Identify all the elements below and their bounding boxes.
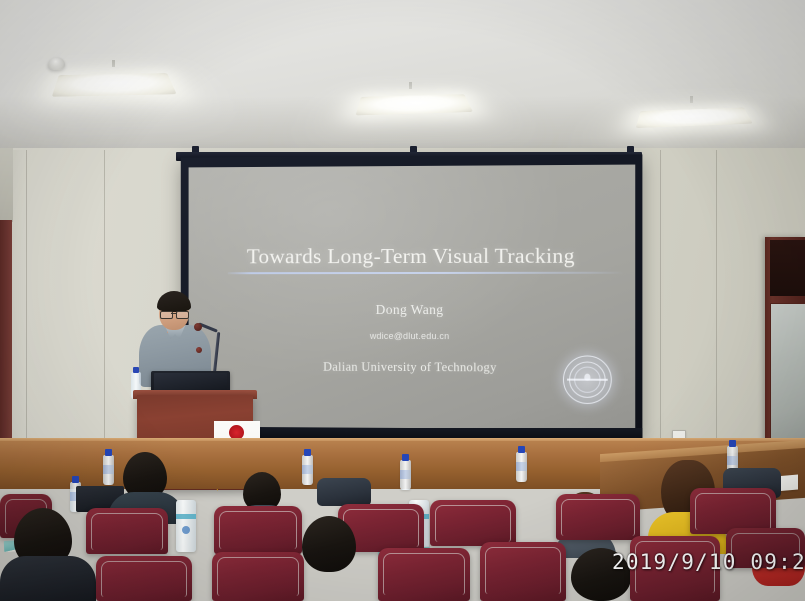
ceiling-light-panel-1 — [52, 73, 177, 97]
smoke-detector-icon — [48, 57, 65, 70]
water-bottle — [400, 460, 411, 490]
seal-center-mark — [584, 374, 590, 381]
conference-room-photograph: Towards Long-Term Visual Tracking Dong W… — [0, 0, 805, 601]
seat[interactable] — [214, 506, 302, 554]
camera-timestamp: 2019/9/10 09:27 — [612, 550, 805, 574]
lamp-stem — [690, 96, 693, 103]
seat[interactable] — [378, 548, 470, 601]
ceiling-light-panel-2 — [355, 94, 473, 115]
water-bottle — [516, 452, 527, 482]
water-bottle — [302, 455, 313, 485]
glasses-icon — [160, 311, 188, 317]
wall-upper-left — [0, 148, 13, 222]
seat[interactable] — [480, 542, 566, 601]
cabinet-upper-panel — [770, 240, 805, 296]
wall-seam — [716, 150, 717, 480]
seat[interactable] — [86, 508, 168, 554]
slide-author: Dong Wang — [189, 302, 636, 318]
seat[interactable] — [430, 500, 516, 546]
slide-email: wdice@dlut.edu.cn — [189, 331, 636, 342]
seat[interactable] — [96, 556, 192, 601]
wall-seam — [104, 150, 105, 480]
wall-seam — [660, 150, 661, 480]
microphone-head-icon — [194, 323, 202, 331]
lamp-stem — [112, 60, 115, 67]
cabinet-glass-panel — [770, 303, 805, 441]
university-seal-watermark-icon — [562, 354, 613, 405]
lamp-stem — [409, 82, 412, 89]
lapel-microphone-icon — [196, 347, 202, 353]
slide-title: Towards Long-Term Visual Tracking — [189, 243, 636, 269]
wall-seam — [26, 150, 27, 480]
seat[interactable] — [556, 494, 640, 540]
slide-title-underline — [228, 272, 624, 274]
thermos-flask — [176, 500, 196, 552]
seat[interactable] — [212, 552, 304, 601]
